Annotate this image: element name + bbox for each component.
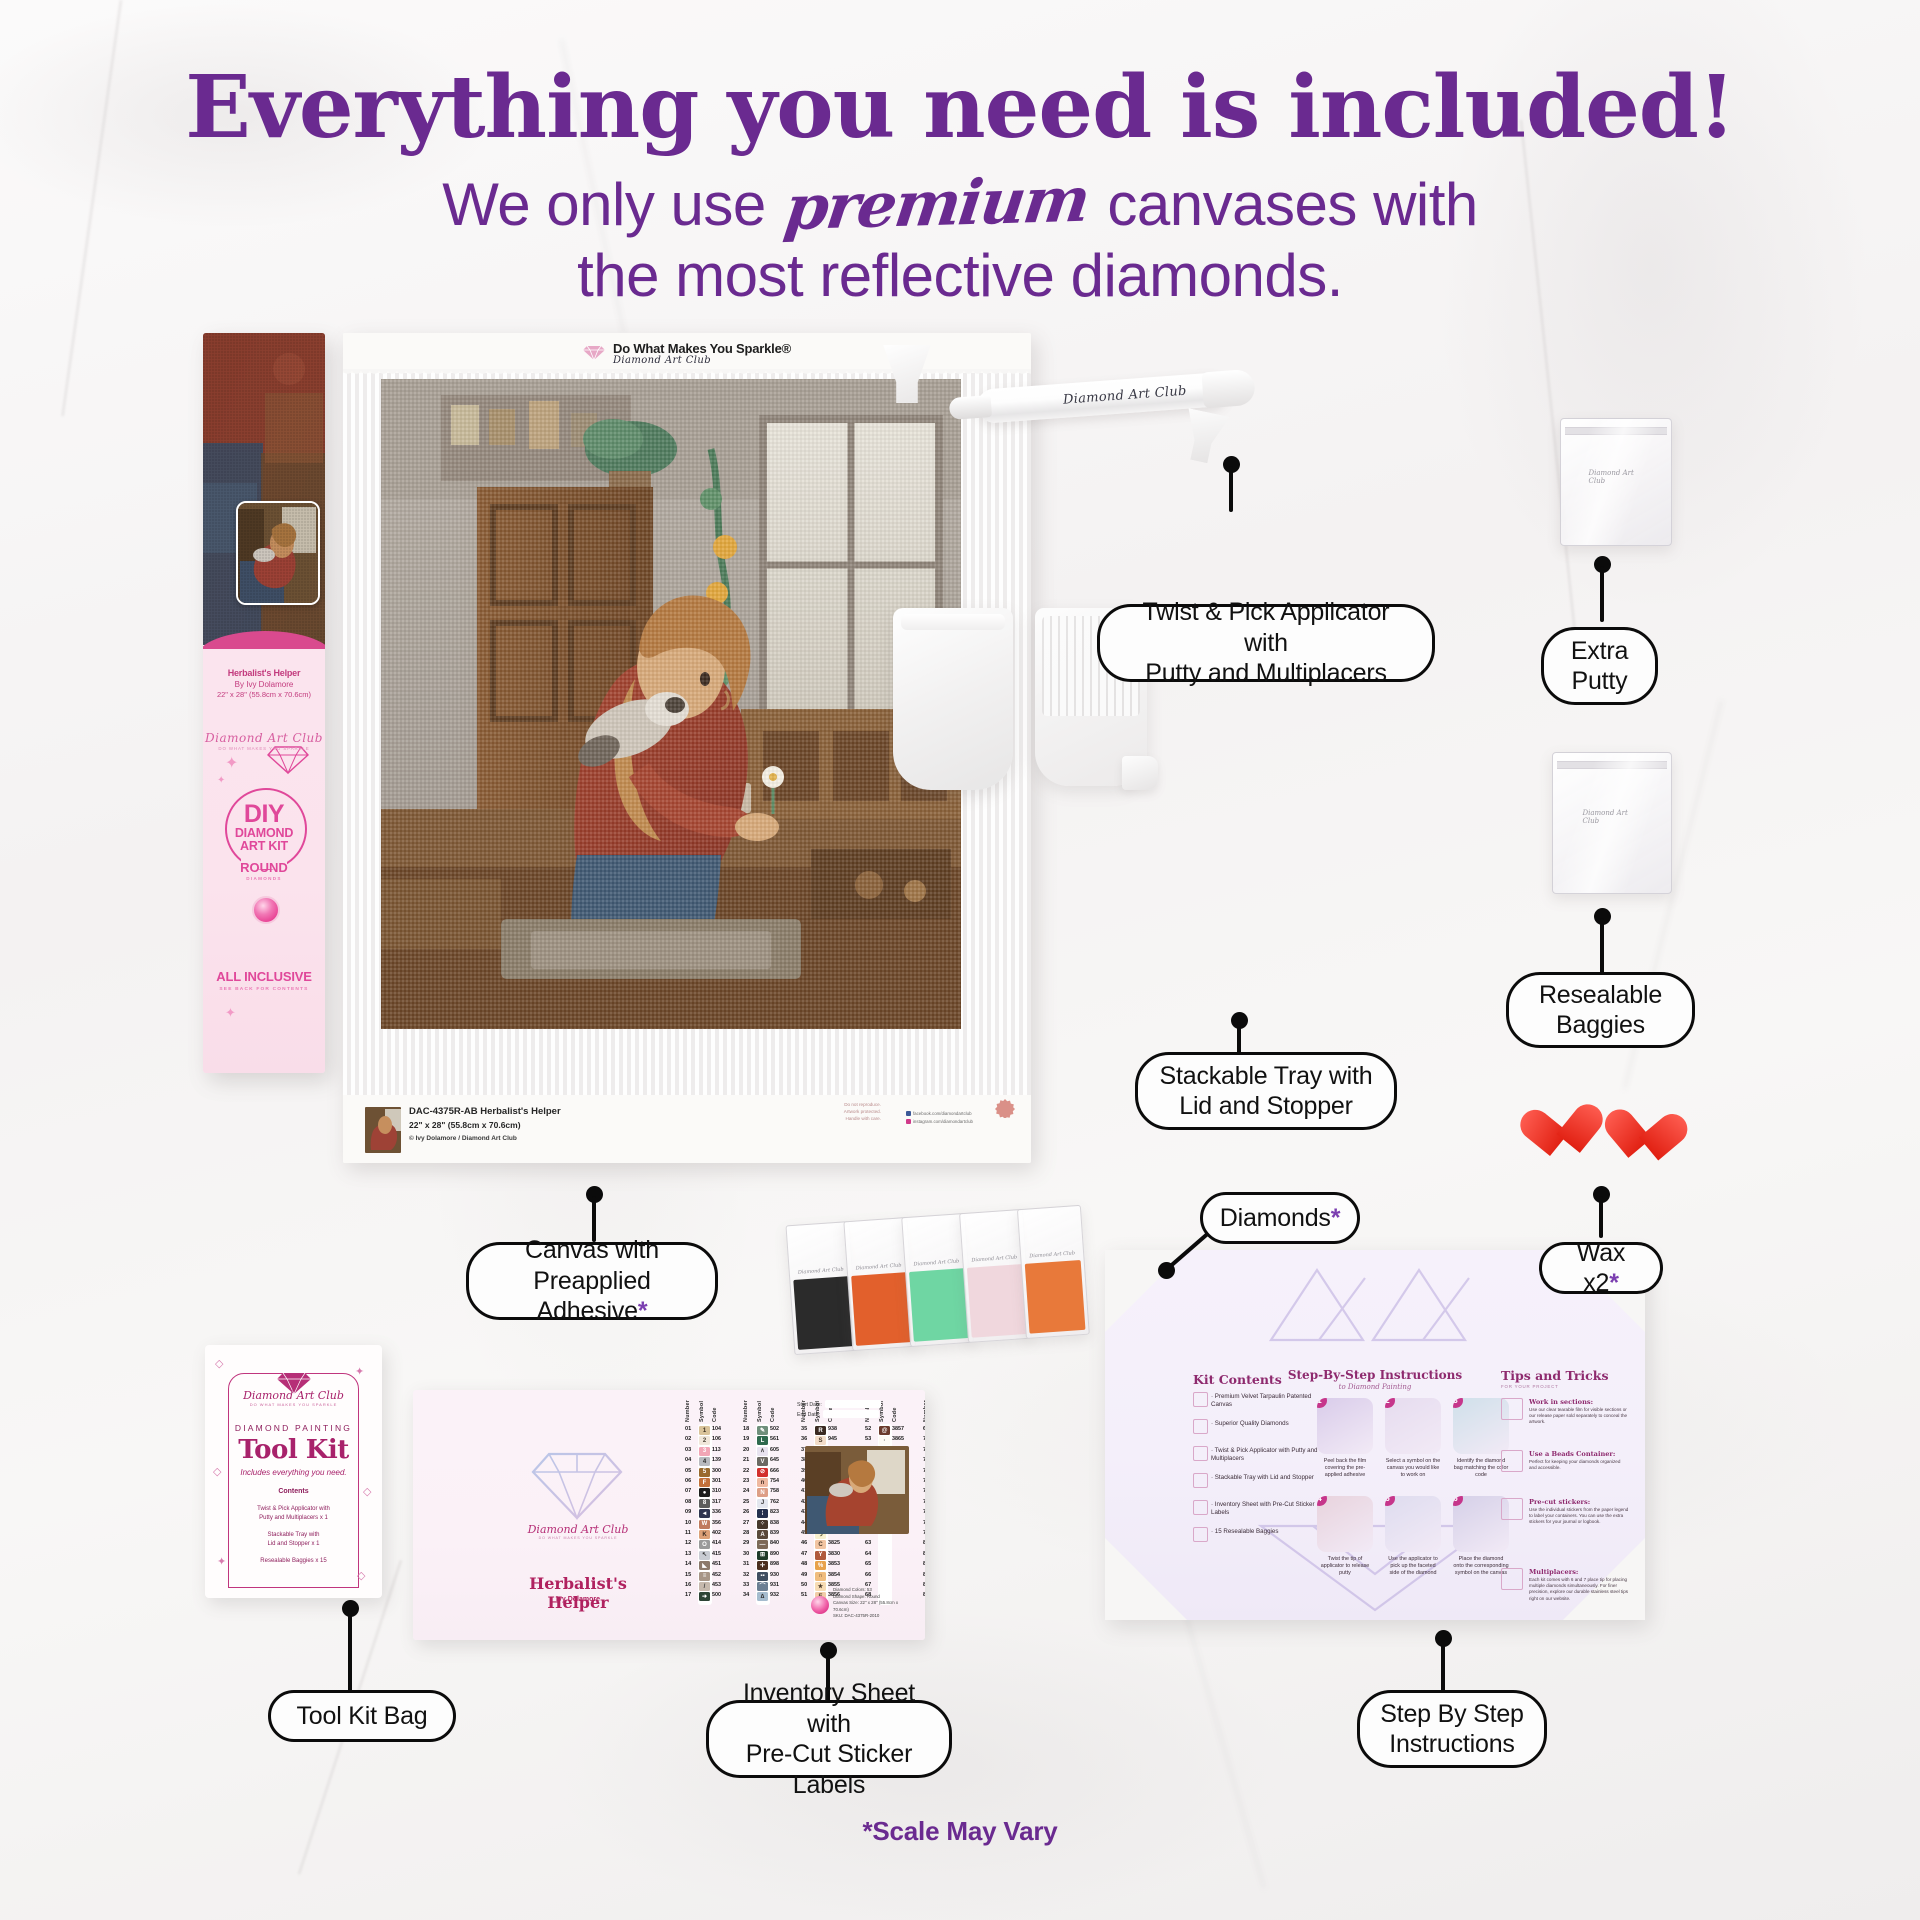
tip-icon [1501,1398,1523,1420]
diamond-bag: Diamond Art Club [1017,1205,1090,1339]
inventory-row-number: 72 [923,1457,925,1463]
diamond-fill [909,1268,970,1342]
facebook-icon [906,1111,911,1116]
instruction-step: 4Twist the tip of applicator to release … [1317,1496,1373,1577]
inventory-row-number: 63 [865,1540,877,1546]
kit-content-icon [1193,1473,1208,1488]
inventory-column-header: Number [685,1396,691,1422]
callout-canvas: Canvas withPreapplied Adhesive* [466,1242,718,1320]
inventory-row-number: 49 [801,1572,813,1578]
inventory-row-symbol: ★ [815,1582,826,1591]
subtitle-line-2: the most reflective diamonds. [0,241,1920,312]
bag-brand-mark: Diamond Art Club [963,1254,1025,1264]
instagram-icon [906,1119,911,1124]
tool-kit-content-item: Lid and Stopper x 1 [205,1540,382,1548]
inventory-row-number: 09 [685,1509,697,1515]
diy-line-1: DIY [203,803,325,827]
inventory-row-symbol: ● [699,1488,710,1497]
inventory-row-symbol: ▪▪ [757,1572,768,1581]
callout-applicator-line1: Twist & Pick Applicator with [1143,598,1390,657]
tip-heading: Pre-cut stickers: [1529,1498,1590,1506]
diy-kit-label: DIY DIAMOND ART KIT [203,803,325,853]
canvas-social-links: facebook.com/diamondartclub instagram.co… [906,1110,973,1125]
inventory-row-symbol: ≡ [699,1572,710,1581]
inventory-row-code: 3853 [828,1561,844,1567]
inventory-row-symbol: · [879,1436,890,1445]
diamond-triangles-decoration [1261,1262,1489,1353]
tip-heading: Multiplacers: [1529,1568,1578,1576]
inventory-row-symbol: O [699,1540,710,1549]
inventory-row-code: 931 [770,1582,786,1588]
tool-kit-content-item: Twist & Pick Applicator with [205,1505,382,1513]
inventory-row-number: 26 [743,1509,755,1515]
inventory-row-number: 48 [801,1561,813,1567]
inventory-row-number: 78 [923,1520,925,1526]
tray-stopper[interactable] [1122,756,1158,790]
inventory-row-number: 84 [923,1582,925,1588]
callout-baggies-line1: Resealable [1539,981,1662,1009]
callout-step-instructions: Step By StepInstructions [1357,1690,1547,1768]
canvas-copyright: © Ivy Dolamore / Diamond Art Club [409,1135,517,1142]
inventory-row-code: 453 [712,1582,728,1588]
inventory-row-symbol: R [815,1426,826,1435]
end-date-label: End Date: [797,1412,820,1418]
callout-inventory-line2: Pre-Cut Sticker Labels [746,1740,912,1799]
tool-kit-content-item: Putty and Multiplacers x 1 [205,1514,382,1522]
inventory-row-number: 18 [743,1426,755,1432]
step-photo: 5 [1385,1496,1441,1552]
start-date-label: Start Date: [797,1402,822,1408]
step-number-badge: 5 [1385,1496,1395,1506]
inventory-row-code: 605 [770,1447,786,1453]
diamond-bags-group[interactable]: Diamond Art Club Diamond Art Club Diamon… [785,1205,1089,1365]
round-subtext: DIAMONDS [203,876,325,881]
inventory-row-number: 17 [685,1592,697,1598]
inventory-row-code: 502 [770,1426,786,1432]
step-number-badge: 3 [1453,1398,1463,1408]
kit-content-item: · Premium Velvet Tarpaulin Patented Canv… [1211,1393,1319,1409]
canvas-brand-script: Diamond Art Club [613,355,711,366]
callout-baggies-line2: Baggies [1556,1011,1645,1039]
inventory-row-number: 81 [923,1551,925,1557]
inventory-canvas-size: Canvas Size: 22" x 28" (55.8cm x 70.6cm) [833,1600,911,1613]
inventory-row-number: 46 [801,1540,813,1546]
subtitle-text-b: canvases with [1107,171,1477,238]
canvas-legend-left [355,385,379,815]
inventory-row-number: 23 [743,1478,755,1484]
inventory-row-symbol: % [815,1561,826,1570]
tip-body: Use the individual stickers from the pap… [1529,1507,1629,1526]
inventory-row-number: 70 [923,1436,925,1442]
inventory-row-number: 29 [743,1540,755,1546]
inventory-row-symbol: W [699,1520,710,1529]
diamond-fill [851,1272,912,1346]
inventory-row-number: 13 [685,1551,697,1557]
step-photo: 4 [1317,1496,1373,1552]
callout-diamonds: Diamonds* [1200,1192,1360,1244]
inventory-row-number: 08 [685,1499,697,1505]
canvas-artwork-svg [381,379,961,1029]
step-caption: Twist the tip of applicator to release p… [1317,1556,1373,1577]
kit-content-item: · 15 Resealable Baggies [1211,1528,1319,1536]
inventory-row-code: 930 [770,1572,786,1578]
inventory-dates[interactable]: Start Date: End Date: [797,1400,917,1420]
inventory-title: Herbalist's Helper [503,1574,653,1612]
inventory-row-number: 64 [865,1551,877,1557]
callout-applicator: Twist & Pick Applicator withPutty and Mu… [1097,604,1435,682]
inventory-row-code: 758 [770,1488,786,1494]
inventory-row-code: 139 [712,1457,728,1463]
inventory-row-code: 823 [770,1509,786,1515]
tip-icon [1501,1498,1523,1520]
inventory-column-header: Symbol [699,1396,705,1422]
inventory-row-symbol: ∩ [815,1572,826,1581]
inventory-row-code: 898 [770,1561,786,1567]
applicator-tip [949,395,992,420]
inventory-row-symbol: ✛ [757,1561,768,1570]
inventory-row-code: 451 [712,1561,728,1567]
inventory-row-code: 561 [770,1436,786,1442]
inventory-row-number: 15 [685,1572,697,1578]
inventory-diamond-graphic [531,1450,623,1522]
inventory-row-symbol: 5 [699,1468,710,1477]
kit-content-icon [1193,1446,1208,1461]
inventory-row-number: 28 [743,1530,755,1536]
inventory-row-number: 80 [923,1540,925,1546]
diamond-fill [967,1264,1028,1338]
step-number-badge: 6 [1453,1496,1463,1506]
tool-kit-bag[interactable]: ◇ ✦ ◇ ◇ ✦ ◇ Diamond Art Club DO WHAT MAK… [205,1345,382,1598]
tool-kit-contents-heading: Contents [205,1488,382,1495]
inventory-row-symbol: ⊘ [757,1468,768,1477]
canvas-artwork [381,379,961,1029]
inventory-row-number: 66 [865,1572,877,1578]
inventory-row-number: 50 [801,1582,813,1588]
inventory-row-symbol: 8 [699,1499,710,1508]
callout-wax: Wax x2* [1539,1242,1663,1294]
inventory-row-code: 104 [712,1426,728,1432]
kit-contents-heading: Kit Contents [1193,1372,1282,1387]
inset-thumb-svg [238,503,318,603]
inventory-row-code: 336 [712,1509,728,1515]
callout-diamonds-line1: Diamonds [1220,1204,1331,1232]
inventory-row-code: 3865 [892,1436,908,1442]
end-date-field[interactable] [823,1410,879,1418]
inventory-column-header: Number [923,1396,925,1422]
callout-toolkit-line1: Tool Kit Bag [296,1701,427,1732]
brand-script: Diamond Art Club [203,731,325,745]
all-inclusive-label: ALL INCLUSIVE SEE BACK FOR CONTENTS [203,969,325,992]
tips-subheading: FOR YOUR PROJECT [1501,1384,1559,1389]
inventory-row-code: 106 [712,1436,728,1442]
tip-heading: Work in sections: [1529,1398,1593,1406]
inventory-row-number: 51 [801,1592,813,1598]
bag-brand-mark: Diamond Art Club [790,1266,852,1276]
gem-swatch-icon [811,1596,829,1614]
inventory-row-number: 65 [865,1561,877,1567]
inventory-row-number: 30 [743,1551,755,1557]
inventory-row-code: 356 [712,1520,728,1526]
inventory-row-number: 34 [743,1592,755,1598]
product-box-artist: By Ivy Dolamore [203,680,325,689]
extra-putty-baggie[interactable]: Diamond Art Club [1560,418,1672,546]
inventory-row-symbol: 2 [699,1436,710,1445]
canvas-slogan: Do What Makes You Sparkle® [613,341,791,356]
inventory-row-number: 47 [801,1551,813,1557]
step-number-badge: 1 [1317,1398,1327,1408]
inventory-row-code: 402 [712,1530,728,1536]
canvas-footer: DAC-4375R-AB Herbalist's Helper 22" x 28… [343,1095,1031,1163]
inventory-row-symbol: ◄ [699,1509,710,1518]
stackable-tray[interactable] [893,608,1013,790]
diamond-gem-icon [583,345,605,361]
step-number-badge: 4 [1317,1496,1327,1506]
baggie-brand-mark: Diamond Art Club [1583,809,1642,825]
tips-heading: Tips and Tricks [1501,1368,1609,1383]
inventory-row-code: 113 [712,1447,728,1453]
bag-brand-mark: Diamond Art Club [905,1258,967,1268]
inventory-row-code: 762 [770,1499,786,1505]
product-box[interactable]: Herbalist's Helper By Ivy Dolamore 22" x… [203,333,325,1073]
asterisk-marker: * [1609,1269,1619,1297]
subtitle-line-1: We only use premium canvases with [0,167,1920,241]
inventory-row-number: 21 [743,1457,755,1463]
tip-body: Each kit comes with 6 and 7 place tip fo… [1529,1577,1629,1602]
gem-swatch-icon [252,896,280,924]
asterisk-marker: * [638,1297,648,1325]
inventory-row-code: 932 [770,1592,786,1598]
bag-brand-mark: Diamond Art Club [1021,1250,1083,1260]
tip-icon [1501,1568,1523,1590]
inventory-brand-logo: Diamond Art Club DO WHAT MAKES YOU SPARK… [513,1523,643,1540]
inventory-row-number: 16 [685,1582,697,1588]
start-date-field[interactable] [825,1400,881,1408]
instruction-step: 2Select a symbol on the canvas you would… [1385,1398,1441,1479]
callout-tray-line1: Stackable Tray with [1160,1062,1373,1090]
inventory-row-number: 71 [923,1447,925,1453]
tip-heading: Use a Beads Container: [1529,1450,1615,1458]
inventory-row-code: 414 [712,1540,728,1546]
inventory-row-symbol: N [757,1488,768,1497]
inventory-row-symbol: @ [879,1426,890,1435]
product-box-brand-logo: Diamond Art Club DO WHAT MAKES YOU SPARK… [203,731,325,751]
canvas-legal-text: Do not reproduce.Artwork protected.Handl… [844,1102,881,1123]
callout-tool-kit-bag: Tool Kit Bag [268,1690,456,1742]
inventory-artwork-photo [805,1446,909,1534]
callout-tray: Stackable Tray withLid and Stopper [1135,1052,1397,1130]
inventory-row-symbol: S [815,1436,826,1445]
inventory-row-code: 317 [712,1499,728,1505]
round-text: ROUND [240,860,288,875]
tool-kit-brand-logo: Diamond Art Club DO WHAT MAKES YOU SPARK… [205,1389,382,1407]
inventory-row-symbol: — [757,1540,768,1549]
inventory-row-number: 10 [685,1520,697,1526]
kit-content-icon [1193,1527,1208,1542]
instruction-step: 5Use the applicator to pick up the facet… [1385,1496,1441,1577]
leader-line-applicator [1229,466,1233,512]
subtitle-script-word: premium [777,163,1097,245]
leader-line-extra-putty [1600,566,1604,622]
asterisk-marker: * [1331,1204,1341,1232]
brand-tagline: DO WHAT MAKES YOU SPARKLE [205,1402,382,1407]
tray-lip [901,614,1005,630]
inventory-row-number: 04 [685,1457,697,1463]
inventory-column-header: Code [712,1396,718,1422]
callout-tray-line2: Lid and Stopper [1179,1092,1353,1120]
callout-applicator-line2: Putty and Multiplacers [1145,659,1387,687]
inventory-row-code: 890 [770,1551,786,1557]
inventory-row-code: 838 [770,1520,786,1526]
callout-extra-putty-line1: Extra [1571,637,1628,665]
inventory-column-header: Symbol [757,1396,763,1422]
inventory-row-symbol: n [757,1478,768,1487]
wax-heart-icon [1600,1110,1662,1169]
kit-content-item: · Stackable Tray with Lid and Stopper [1211,1474,1319,1482]
brand-tagline: DO WHAT MAKES YOU SPARKLE [513,1536,643,1540]
inventory-row-code: 645 [770,1457,786,1463]
tool-kit-eyebrow: DIAMOND PAINTING [205,1423,382,1433]
brand-script: Diamond Art Club [513,1523,643,1536]
quality-seal-icon [995,1098,1015,1123]
inventory-sheet[interactable]: Diamond Art Club DO WHAT MAKES YOU SPARK… [413,1390,925,1640]
inventory-row-symbol: F [699,1478,710,1487]
inventory-row-number: 69 [923,1426,925,1432]
inventory-footer-info: Diamond Colors: 53 Diamond Shape: Round … [833,1587,911,1620]
inventory-row-symbol: ⊞ [757,1551,768,1560]
tool-kit-subtitle: Includes everything you need. [205,1468,382,1477]
tool-kit-title: Tool Kit [205,1435,382,1465]
inventory-row-number: 14 [685,1561,697,1567]
inventory-column-header: Code [770,1396,776,1422]
inventory-row-number: 74 [923,1478,925,1484]
inventory-row-number: 24 [743,1488,755,1494]
tool-kit-content-item: Stackable Tray with [205,1531,382,1539]
step-photo: 1 [1317,1398,1373,1454]
inventory-row-number: 03 [685,1447,697,1453]
step-photo: 2 [1385,1398,1441,1454]
canvas-sku-line: DAC-4375R-AB Herbalist's Helper [409,1106,561,1117]
callout-resealable-baggies: ResealableBaggies [1506,972,1695,1048]
inventory-row-number: 83 [923,1572,925,1578]
step-caption: Peel back the film covering the pre-appl… [1317,1458,1373,1479]
inventory-row-number: 82 [923,1561,925,1567]
canvas-size-line: 22" x 28" (55.8cm x 70.6cm) [409,1120,521,1130]
inventory-row-symbol: 4 [699,1457,710,1466]
inventory-row-number: 06 [685,1478,697,1484]
sparkle-icon: ✦ [225,753,238,773]
inventory-row-number: 12 [685,1540,697,1546]
inventory-row-code: 839 [770,1530,786,1536]
product-box-size: 22" x 28" (55.8cm x 70.6cm) [203,690,325,699]
callout-canvas-line1: Canvas with [525,1236,659,1264]
step-caption: Use the applicator to pick up the facete… [1385,1556,1441,1577]
inventory-row-symbol: C [815,1540,826,1549]
product-box-inset-thumbnail [236,501,320,605]
callout-steps-line1: Step By Step [1380,1700,1524,1728]
inventory-row-code: 754 [770,1478,786,1484]
headline-block: Everything you need is included! We only… [0,0,1920,312]
diy-line-3: ART KIT [203,840,325,853]
callout-extra-putty: ExtraPutty [1541,627,1658,705]
callout-canvas-line2: Preapplied Adhesive [533,1267,651,1326]
inventory-row-symbol: ⁞ [757,1509,768,1518]
brand-tagline: DO WHAT MAKES YOU SPARKLE [203,746,325,751]
baggie-brand-mark: Diamond Art Club [1589,469,1644,485]
instruction-step: 1Peel back the film covering the pre-app… [1317,1398,1373,1479]
inventory-row-number: 22 [743,1468,755,1474]
inventory-row-number: 73 [923,1468,925,1474]
inventory-row-number: 79 [923,1530,925,1536]
instructions-subtitle: to Diamond Painting [1105,1383,1645,1391]
inventory-row-number: 02 [685,1436,697,1442]
inventory-column-header: Number [743,1396,749,1422]
callout-inventory-line1: Inventory Sheet with [743,1679,915,1738]
leader-line-baggies [1600,918,1604,974]
all-inclusive-text: ALL INCLUSIVE [216,969,311,984]
diy-line-2: DIAMOND [203,827,325,840]
sparkle-icon: ✦ [217,775,225,786]
inventory-row-number: 27 [743,1520,755,1526]
brand-script: Diamond Art Club [205,1389,382,1402]
see-back-text: SEE BACK FOR CONTENTS [203,987,325,992]
inventory-row-code: 415 [712,1551,728,1557]
inventory-row-symbol: ➜ [699,1592,710,1601]
instagram-handle: instagram.com/diamondartclub [913,1119,973,1124]
inventory-shape: Diamond Shape: Round [833,1594,911,1601]
inventory-row-symbol: 3 [699,1447,710,1456]
start-date-row: Start Date: [797,1400,917,1408]
inventory-row-number: 25 [743,1499,755,1505]
inventory-row-symbol: Y [815,1551,826,1560]
applicator-cap [1201,369,1255,409]
inventory-row-number: 31 [743,1561,755,1567]
wax-heart-icon [1517,1107,1580,1167]
inventory-row-number: 35 [801,1426,813,1432]
inventory-row-code: 3830 [828,1551,844,1557]
resealable-baggie[interactable]: Diamond Art Club [1552,752,1672,894]
inventory-row-code: 3825 [828,1540,844,1546]
product-box-title: Herbalist's Helper [203,668,325,678]
inventory-row-number: 32 [743,1572,755,1578]
inventory-row-symbol: V [757,1457,768,1466]
step-number-badge: 2 [1385,1398,1395,1408]
page-title: Everything you need is included! [0,62,1920,153]
diamond-fill [793,1276,854,1350]
step-by-step-instruction-sheet[interactable]: Step-By-Step Instructions to Diamond Pai… [1105,1250,1645,1620]
inventory-row-code: 300 [712,1468,728,1474]
inventory-row-symbol: ∧ [757,1447,768,1456]
inventory-sku: SKU: DAC-4375R-2010 [833,1613,911,1620]
inventory-colors-count: Diamond Colors: 53 [833,1587,911,1594]
sparkle-icon: ✦ [225,1005,236,1021]
subtitle-text-a: We only use [442,171,766,238]
inventory-artist: Ivy Dolamore [503,1596,653,1603]
inventory-row-symbol: 1 [699,1426,710,1435]
canvas-footer-thumbnail [365,1107,401,1153]
inventory-row-number: 19 [743,1436,755,1442]
inventory-row-number: 75 [923,1488,925,1494]
inventory-row-symbol: L [757,1436,768,1445]
callout-steps-line2: Instructions [1389,1730,1514,1758]
inventory-row-symbol: K [699,1530,710,1539]
inventory-row-number: 85 [923,1592,925,1598]
inventory-row-number: 11 [685,1530,697,1536]
step-caption: Select a symbol on the canvas you would … [1385,1458,1441,1479]
inventory-row-number: 52 [865,1426,877,1432]
kit-content-icon [1193,1392,1208,1407]
infographic-canvas: Everything you need is included! We only… [0,0,1920,1920]
tip-body: Perfect for keeping your diamonds organi… [1529,1459,1629,1471]
